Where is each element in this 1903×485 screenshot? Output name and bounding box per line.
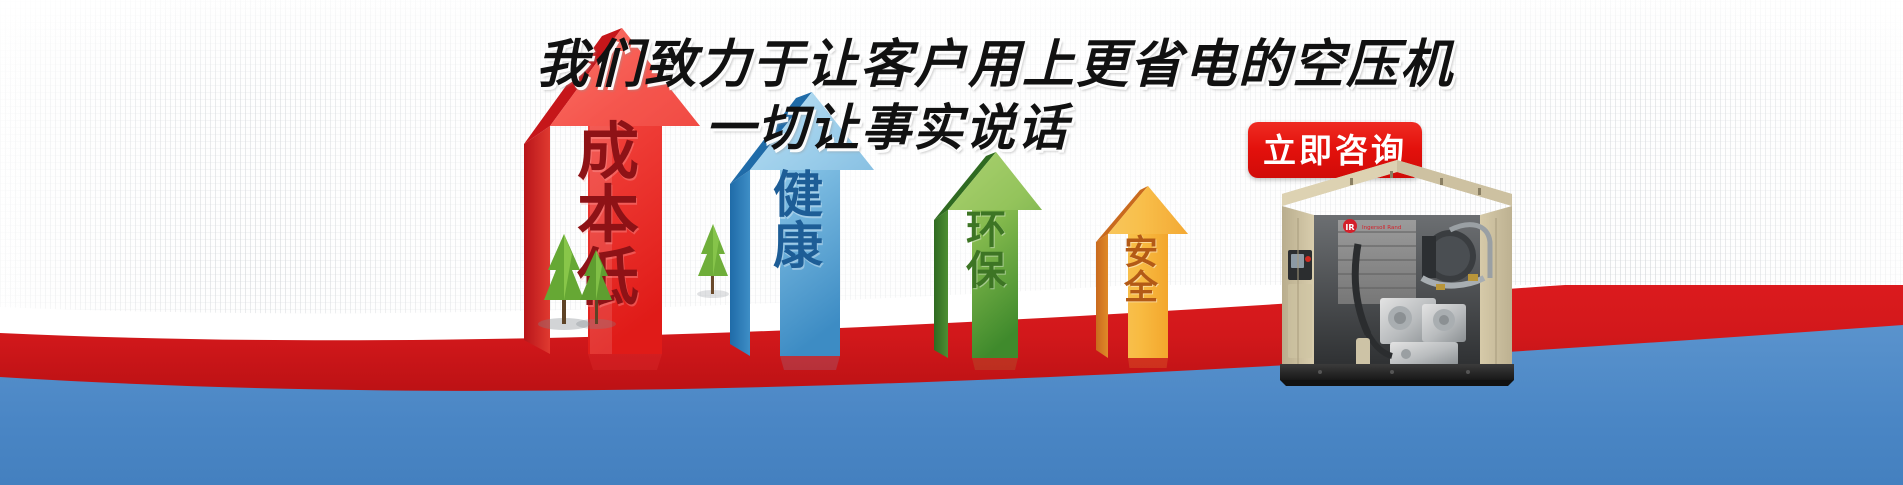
headline-line-1: 我们致力于让客户用上更省电的空压机 [536, 22, 1454, 97]
promo-banner: 安 全 环 保 [0, 0, 1903, 485]
air-compressor-product-image: IR Ingersoll Rand [1272, 158, 1522, 390]
svg-text:Ingersoll Rand: Ingersoll Rand [1362, 225, 1401, 231]
arrow-safety: 安 全 [1088, 182, 1194, 368]
arrow-environment: 环 保 [924, 148, 1048, 370]
tree-icon-pair [534, 224, 620, 334]
svg-text:IR: IR [1345, 223, 1354, 232]
headline-line-2: 一切让事实说话 [705, 88, 1069, 160]
